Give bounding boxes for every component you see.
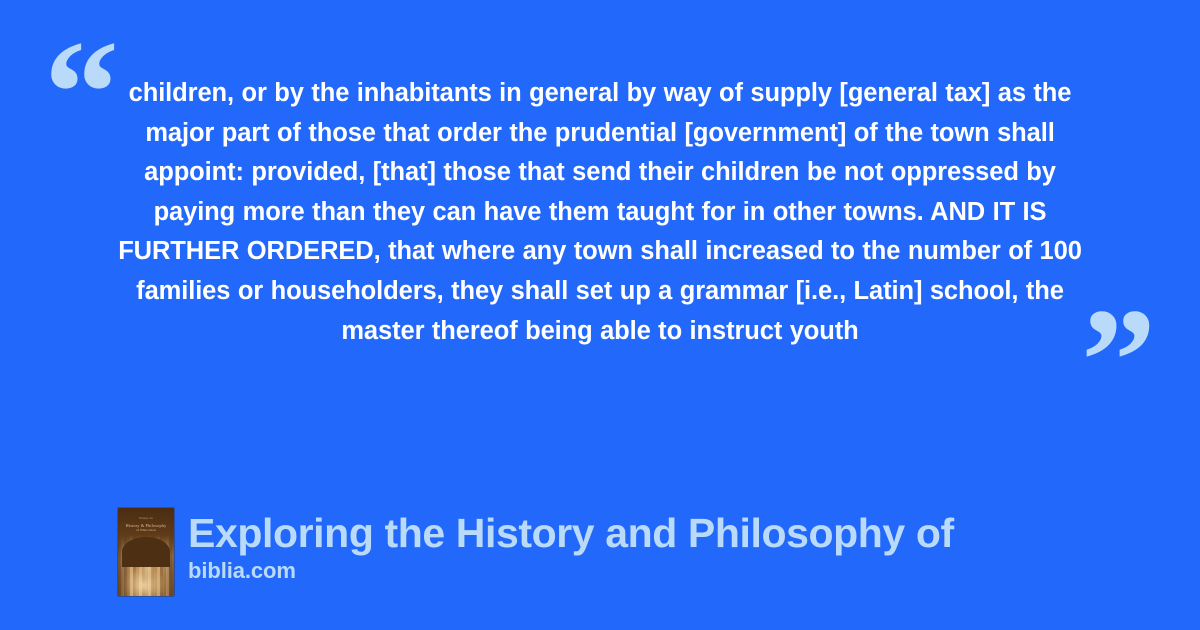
book-cover-author: biblia xyxy=(124,586,168,590)
site-title[interactable]: Exploring the History and Philosophy of xyxy=(188,510,954,556)
book-cover-title-line-1: Essays on xyxy=(124,516,168,521)
quote-card: “ children, or by the inhabitants in gen… xyxy=(0,0,1200,630)
close-quote-icon: ” xyxy=(1081,286,1156,436)
site-domain[interactable]: biblia.com xyxy=(188,558,954,584)
quote-text: children, or by the inhabitants in gener… xyxy=(104,74,1096,351)
book-cover-title: Essays on History & Philosophy of Educat… xyxy=(124,516,168,534)
footer-text-block: Exploring the History and Philosophy of … xyxy=(188,508,954,584)
footer-branding[interactable]: Essays on History & Philosophy of Educat… xyxy=(118,508,954,596)
quote-body: children, or by the inhabitants in gener… xyxy=(104,74,1096,351)
book-cover-thumbnail: Essays on History & Philosophy of Educat… xyxy=(118,508,174,596)
book-cover-title-line-3: of Education xyxy=(124,528,168,533)
